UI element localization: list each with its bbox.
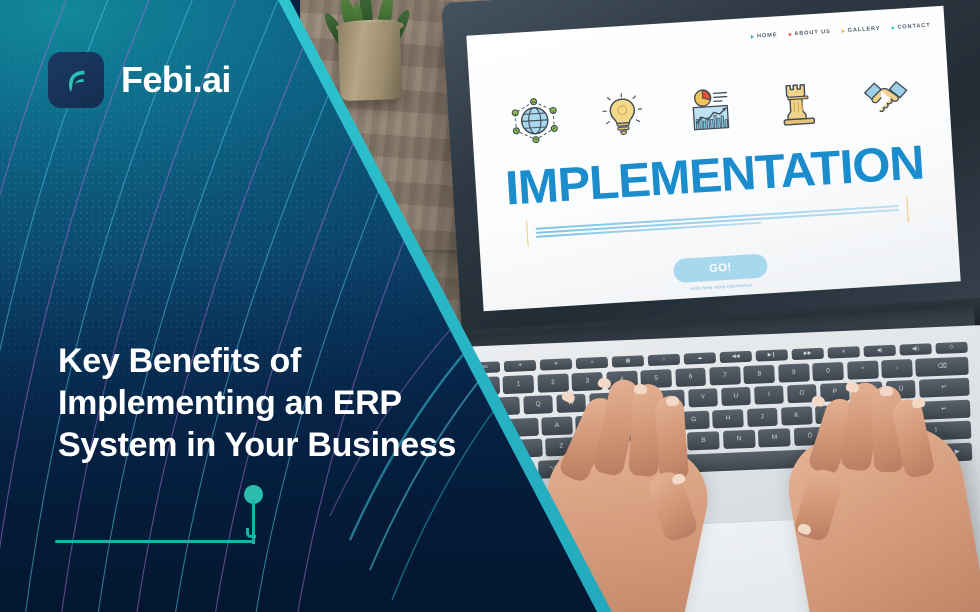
triangle-bullet-icon <box>891 26 894 30</box>
nav-item-gallery[interactable]: GALLERY <box>842 26 881 34</box>
nav-label: HOME <box>757 32 778 39</box>
accent-underline <box>55 540 255 543</box>
brand-logo-text: Febi.ai <box>121 59 231 101</box>
globe-network-icon <box>510 96 559 145</box>
nav-item-contact[interactable]: CONTACT <box>891 23 931 31</box>
triangle-bullet-icon <box>842 29 845 33</box>
chess-rook-strategy-icon <box>774 80 823 129</box>
nav-label: ABOUT US <box>794 29 831 37</box>
nav-label: GALLERY <box>848 26 881 34</box>
triangle-bullet-icon <box>788 32 791 36</box>
lightbulb-idea-icon <box>598 91 647 140</box>
screen-icon-row <box>470 72 950 148</box>
triangle-bullet-icon <box>751 35 754 39</box>
screen-nav: HOME ABOUT US GALLERY CONTACT <box>751 23 931 40</box>
finger <box>654 395 689 481</box>
banner: HOME ABOUT US GALLERY CONTACT <box>0 0 980 612</box>
febi-f-monogram-icon <box>48 52 104 108</box>
accent-corner <box>246 528 256 538</box>
laptop-lid: HOME ABOUT US GALLERY CONTACT <box>441 0 980 363</box>
analytics-chart-icon <box>686 85 735 134</box>
nav-item-about-us[interactable]: ABOUT US <box>788 29 831 38</box>
go-button[interactable]: GO! <box>673 253 768 283</box>
nav-label: CONTACT <box>897 23 931 31</box>
page-title: Key Benefits of Implementing an ERP Syst… <box>58 340 488 466</box>
brand-logo[interactable]: Febi.ai <box>48 52 231 108</box>
nav-item-home[interactable]: HOME <box>751 32 778 40</box>
handshake-partnership-icon <box>862 74 911 123</box>
laptop-screen: HOME ABOUT US GALLERY CONTACT <box>466 6 960 311</box>
